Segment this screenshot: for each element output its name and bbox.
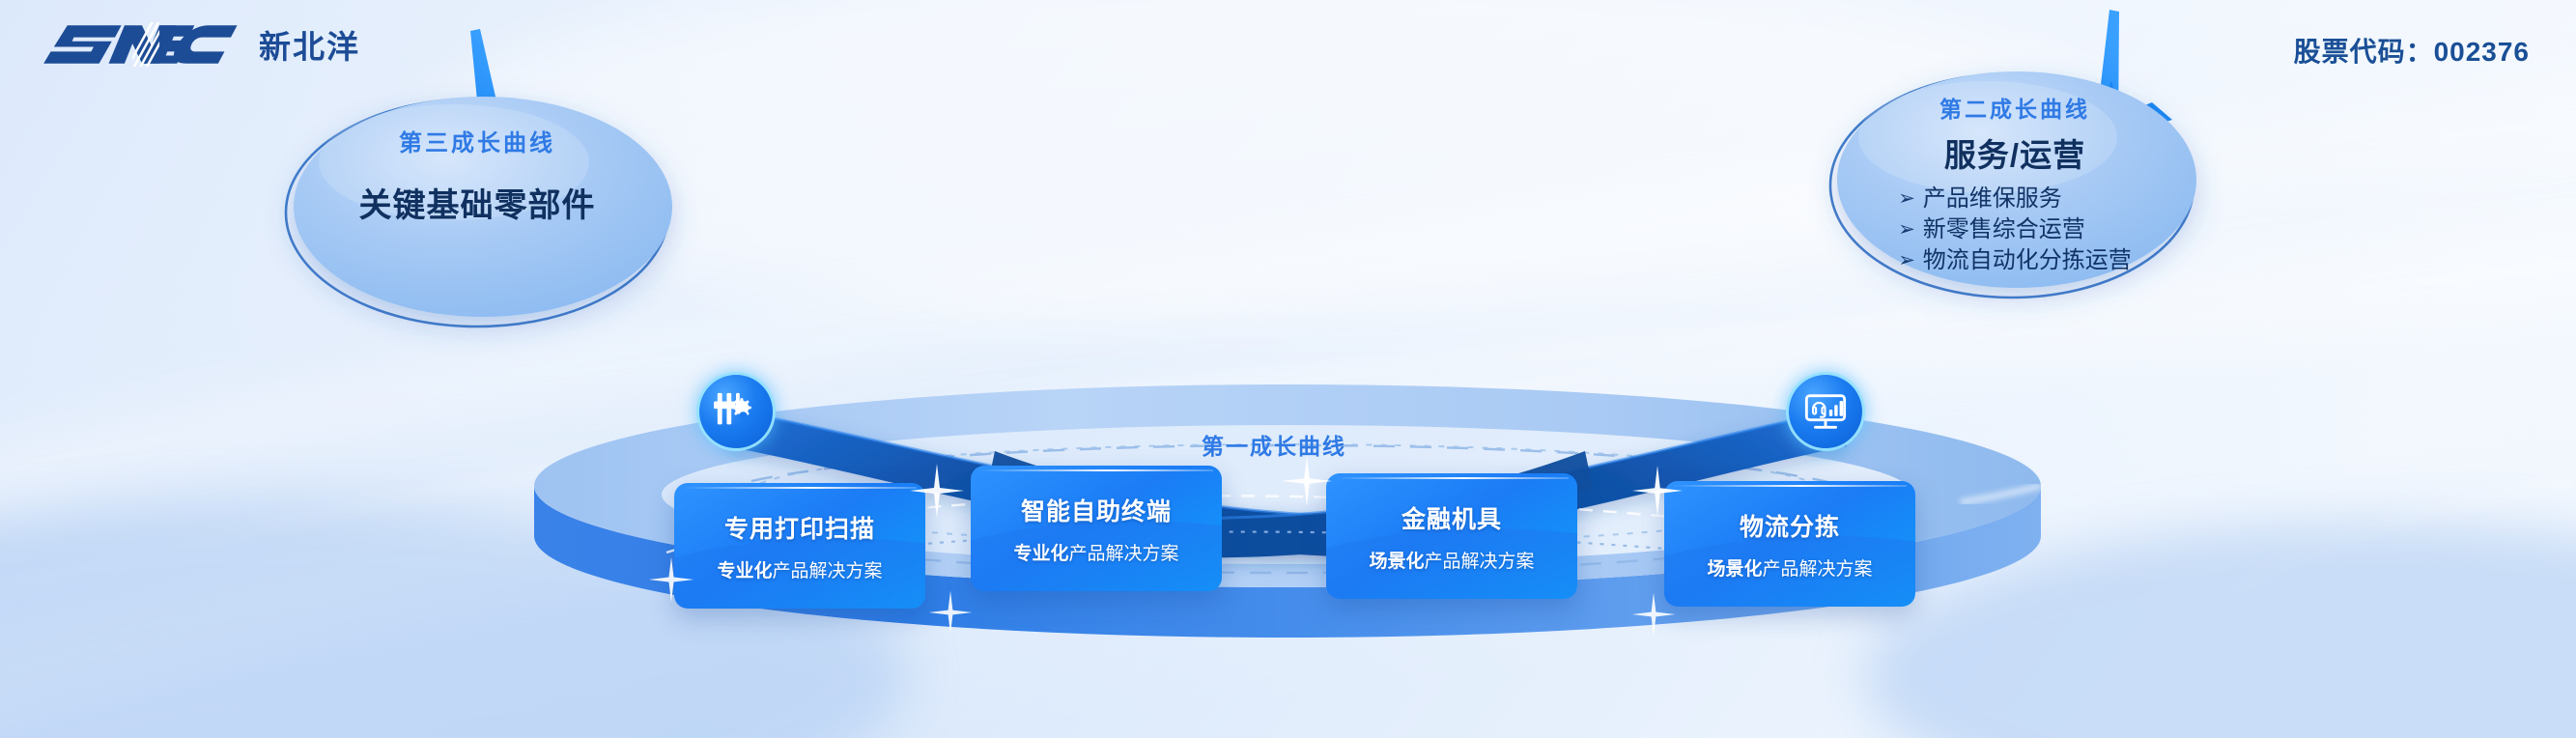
bullet-label: 物流自动化分拣运营 (1923, 245, 2132, 276)
card-subtitle-rest: 产品解决方案 (773, 561, 883, 582)
card-title: 智能自助终端 (1021, 493, 1172, 527)
product-card-self-service[interactable]: 智能自助终端 专业化产品解决方案 (971, 466, 1222, 591)
card-subtitle-strong: 场景化 (1707, 559, 1762, 580)
snbc-logo-icon (39, 22, 245, 67)
third-curve-bubble[interactable]: 第三成长曲线 关键基础零部件 (286, 100, 668, 317)
bullet-arrow-icon: ➢ (1898, 250, 1915, 270)
second-curve-bullet-item: ➢物流自动化分拣运营 (1898, 245, 2132, 276)
card-title: 专用打印扫描 (724, 510, 875, 545)
second-curve-bullet-item: ➢新零售综合运营 (1898, 214, 2132, 245)
card-top-highlight (979, 469, 1213, 471)
second-curve-headline: 服务/运营 (1831, 129, 2198, 176)
product-card-printing[interactable]: 专用打印扫描 专业化产品解决方案 (674, 483, 925, 609)
sliders-gear-icon (714, 389, 758, 434)
card-subtitle-rest: 产品解决方案 (1763, 559, 1873, 580)
stock-code: 股票代码：002376 (2294, 31, 2530, 70)
card-subtitle: 场景化产品解决方案 (1369, 547, 1534, 573)
card-title: 金融机具 (1401, 500, 1502, 535)
sliders-gear-icon-badge[interactable] (699, 375, 773, 448)
card-subtitle: 专业化产品解决方案 (1013, 539, 1178, 565)
card-subtitle-strong: 专业化 (1013, 544, 1068, 564)
monitor-headset-chart-icon (1803, 389, 1848, 434)
card-top-highlight (1673, 485, 1907, 487)
card-subtitle-rest: 产品解决方案 (1425, 552, 1535, 572)
product-card-logistics[interactable]: 物流分拣 场景化产品解决方案 (1664, 481, 1915, 607)
third-curve-kicker: 第三成长曲线 (286, 124, 668, 157)
second-curve-bullet-list: ➢产品维保服务➢新零售综合运营➢物流自动化分拣运营 (1898, 184, 2132, 276)
second-curve-bubble[interactable]: 第二成长曲线 服务/运营 ➢产品维保服务➢新零售综合运营➢物流自动化分拣运营 (1831, 75, 2198, 288)
card-top-highlight (1335, 477, 1569, 479)
brand-logo-cn: 新北洋 (259, 21, 360, 68)
first-curve-label: 第一成长曲线 (1202, 428, 1346, 461)
brand-logo[interactable]: 新北洋 (39, 21, 360, 68)
bullet-arrow-icon: ➢ (1898, 188, 1915, 209)
bullet-label: 产品维保服务 (1923, 184, 2062, 214)
card-top-highlight (683, 487, 917, 489)
card-subtitle: 专业化产品解决方案 (717, 556, 882, 582)
infographic-canvas: 新北洋 股票代码：002376 第一成长曲线 专用打印扫描 专业化产品解决方案 … (0, 0, 2576, 738)
product-card-financial[interactable]: 金融机具 场景化产品解决方案 (1326, 473, 1577, 599)
second-curve-kicker: 第二成长曲线 (1831, 91, 2198, 124)
card-subtitle-strong: 专业化 (717, 561, 772, 582)
card-subtitle-rest: 产品解决方案 (1069, 544, 1179, 564)
bullet-label: 新零售综合运营 (1923, 214, 2085, 245)
card-title: 物流分拣 (1740, 508, 1840, 543)
third-curve-headline: 关键基础零部件 (286, 179, 668, 226)
monitor-headset-chart-icon-badge[interactable] (1789, 375, 1862, 448)
second-curve-bullet-item: ➢产品维保服务 (1898, 184, 2132, 214)
bullet-arrow-icon: ➢ (1898, 219, 1915, 240)
card-subtitle: 场景化产品解决方案 (1707, 554, 1872, 581)
card-subtitle-strong: 场景化 (1369, 552, 1424, 572)
